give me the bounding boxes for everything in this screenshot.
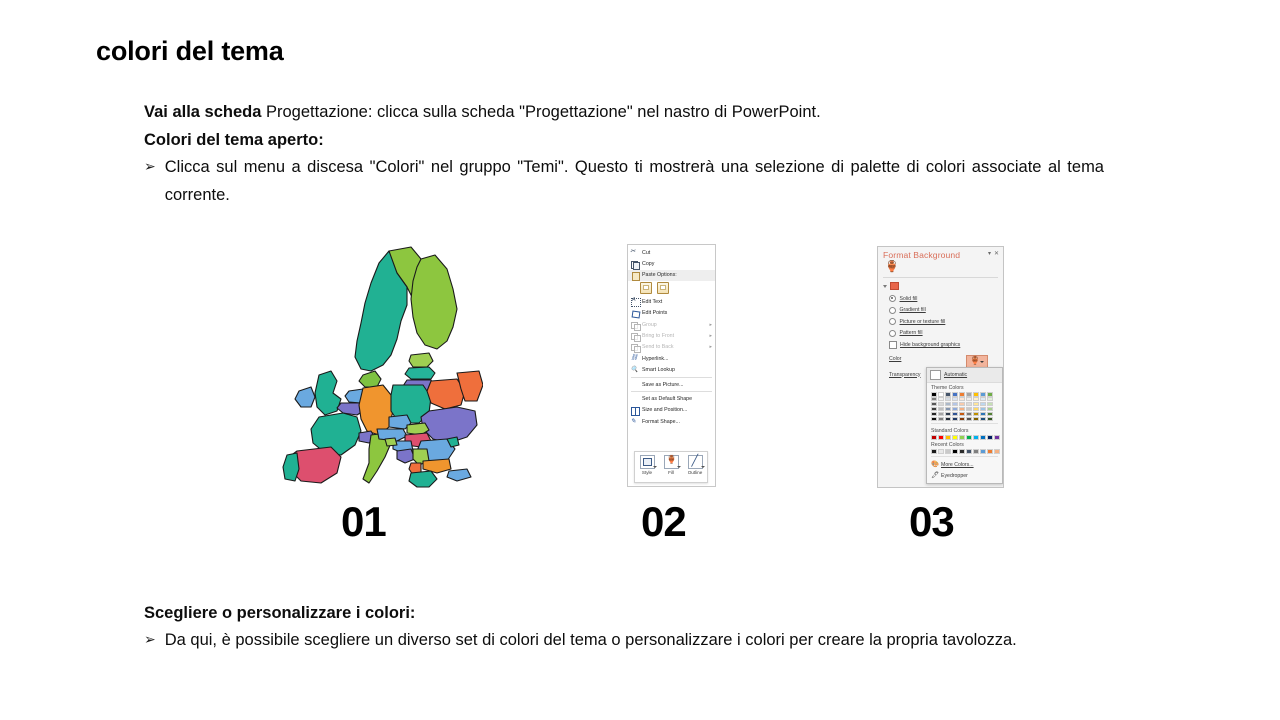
map-region-bosnia xyxy=(397,449,415,463)
collapse-triangle-icon[interactable] xyxy=(883,285,887,288)
recent-colors-label: Recent Colors xyxy=(927,440,1002,449)
size-position-icon xyxy=(630,406,640,415)
context-menu-list[interactable]: Cut Copy Paste Options: Edit Text Edit P… xyxy=(628,245,715,427)
step-number-02: 02 xyxy=(641,498,686,546)
format-shape-icon xyxy=(630,417,640,426)
context-menu-item-bring-to-front: Bring to Front ▸ xyxy=(628,330,715,341)
fill-option-picture-texture[interactable]: Picture or texture fill xyxy=(878,316,1003,328)
standard-colors-label: Standard Colors xyxy=(927,426,1002,435)
instruction-bullet-2-text: Da qui, è possibile scegliere un diverso… xyxy=(165,627,1024,654)
map-region-slovenia xyxy=(385,438,397,446)
submenu-arrow-icon: ▸ xyxy=(709,344,712,350)
instruction-bullet-1: ➢ Clicca sul menu a discesa "Colori" nel… xyxy=(144,154,1104,209)
edit-text-icon xyxy=(630,297,640,306)
instruction-goto-tab-rest: Progettazione: clicca sulla scheda "Prog… xyxy=(261,103,820,121)
context-menu-item-group: Group ▸ xyxy=(628,319,715,330)
standard-swatch xyxy=(945,435,951,440)
radio-pattern-fill[interactable] xyxy=(889,330,896,337)
scissors-icon xyxy=(630,248,640,257)
pane-divider xyxy=(883,277,998,278)
map-region-portugal xyxy=(283,453,299,481)
mini-toolbar-fill-button[interactable]: Fill xyxy=(660,455,682,475)
instructions-bottom: Scegliere o personalizzare i colori: ➢ D… xyxy=(144,600,1024,655)
map-region-denmark xyxy=(359,371,381,387)
pane-options-chevron-icon[interactable]: ▾ xyxy=(988,250,991,257)
more-colors-item[interactable]: More Colors... xyxy=(927,459,1002,470)
recent-swatch xyxy=(945,449,951,454)
format-background-pane-figure[interactable]: Format Background ▾ ✕ Solid fill Gradien… xyxy=(877,246,1004,488)
standard-swatch xyxy=(973,435,979,440)
context-menu-item-format-shape[interactable]: Format Shape... xyxy=(628,416,715,427)
standard-swatch xyxy=(938,435,944,440)
europe-map-figure xyxy=(271,245,483,491)
context-menu-item-smart-lookup[interactable]: Smart Lookup xyxy=(628,365,715,376)
context-menu-item-send-to-back: Send to Back ▸ xyxy=(628,342,715,353)
edit-points-icon xyxy=(630,309,640,318)
context-menu-item-cut[interactable]: Cut xyxy=(628,247,715,258)
standard-swatch xyxy=(966,435,972,440)
fill-bucket-icon xyxy=(970,358,979,367)
submenu-arrow-icon: ▸ xyxy=(709,322,712,328)
eyedropper-item[interactable]: Eyedropper xyxy=(927,470,1002,481)
recent-swatch xyxy=(931,449,937,454)
recent-swatch xyxy=(938,449,944,454)
paste-option-picture-icon[interactable] xyxy=(657,282,669,294)
chevron-down-icon[interactable] xyxy=(980,361,984,363)
paste-options-row[interactable] xyxy=(628,281,715,296)
instruction-line-goto-tab: Vai alla scheda Progettazione: clicca su… xyxy=(144,99,1104,127)
mini-toolbar-style-button[interactable]: Style xyxy=(636,455,658,475)
map-region-greece xyxy=(409,471,437,487)
fill-option-solid[interactable]: Solid fill xyxy=(878,293,1003,305)
page-title: colori del tema xyxy=(96,36,284,67)
standard-swatch xyxy=(931,435,937,440)
clipboard-icon xyxy=(630,271,640,280)
copy-icon xyxy=(630,260,640,269)
fill-option-gradient[interactable]: Gradient fill xyxy=(878,305,1003,317)
instruction-heading-choose-customize: Scegliere o personalizzare i colori: xyxy=(144,600,1024,627)
recent-swatch xyxy=(952,449,958,454)
standard-swatch xyxy=(959,435,965,440)
submenu-arrow-icon: ▸ xyxy=(709,333,712,339)
context-menu-item-edit-points[interactable]: Edit Points xyxy=(628,308,715,319)
instruction-heading-theme-colors: Colori del tema aperto: xyxy=(144,127,1104,155)
palette-icon xyxy=(931,461,938,468)
instructions-top: Vai alla scheda Progettazione: clicca su… xyxy=(144,99,1104,210)
arrow-bullet-icon: ➢ xyxy=(144,627,156,652)
fill-color-chip-icon xyxy=(890,282,899,290)
mini-toolbar-outline-button[interactable]: Outline xyxy=(684,455,706,475)
color-dropdown-panel[interactable]: Automatic Theme Colors Standard Colors xyxy=(926,367,1003,484)
context-menu-item-copy[interactable]: Copy xyxy=(628,258,715,269)
standard-swatch xyxy=(994,435,1000,440)
close-icon[interactable]: ✕ xyxy=(994,250,999,257)
instruction-bullet-1-text: Clicca sul menu a discesa "Colori" nel g… xyxy=(165,154,1104,209)
group-icon xyxy=(630,320,640,329)
instruction-bullet-2: ➢ Da qui, è possibile scegliere un diver… xyxy=(144,627,1024,654)
theme-variant-grid[interactable] xyxy=(927,397,1002,421)
context-menu-item-edit-text[interactable]: Edit Text xyxy=(628,296,715,307)
instruction-goto-tab-strong: Vai alla scheda xyxy=(144,103,261,121)
checkbox-box-icon[interactable] xyxy=(889,341,897,349)
format-background-header: Format Background ▾ ✕ xyxy=(878,247,1003,260)
bring-front-icon xyxy=(630,332,640,341)
fill-option-pattern[interactable]: Pattern fill xyxy=(878,328,1003,340)
standard-colors-grid[interactable] xyxy=(927,435,1002,440)
paste-option-keep-source-icon[interactable] xyxy=(640,282,652,294)
step-number-01: 01 xyxy=(341,498,386,546)
map-region-estonia xyxy=(409,353,433,367)
recent-swatch xyxy=(959,449,965,454)
field-color-label: Color xyxy=(889,356,931,362)
outline-pen-icon xyxy=(688,455,703,469)
map-region-finland xyxy=(411,255,457,349)
context-menu-item-set-as-default-shape[interactable]: Set as Default Shape xyxy=(628,393,715,404)
shape-mini-toolbar[interactable]: Style Fill Outline xyxy=(634,451,708,483)
map-region-germany xyxy=(359,385,393,435)
radio-solid-fill[interactable] xyxy=(889,295,896,302)
palette-separator xyxy=(931,423,998,424)
color-automatic-item[interactable]: Automatic xyxy=(927,368,1002,383)
recent-swatch xyxy=(973,449,979,454)
arrow-bullet-icon: ➢ xyxy=(144,154,156,179)
fill-bucket-icon[interactable] xyxy=(885,262,898,274)
context-menu-item-hyperlink[interactable]: Hyperlink... xyxy=(628,353,715,364)
recent-swatch xyxy=(980,449,986,454)
hyperlink-icon xyxy=(630,354,640,363)
step-number-03: 03 xyxy=(909,498,954,546)
fill-bucket-icon xyxy=(664,455,679,469)
palette-separator xyxy=(931,456,998,457)
send-back-icon xyxy=(630,343,640,352)
context-menu-item-size-and-position[interactable]: Size and Position... xyxy=(628,405,715,416)
recent-swatch xyxy=(987,449,993,454)
map-region-ireland xyxy=(295,387,315,407)
shape-style-icon xyxy=(640,455,655,469)
radio-gradient-fill[interactable] xyxy=(889,307,896,314)
standard-swatch xyxy=(987,435,993,440)
context-menu-item-paste-options[interactable]: Paste Options: xyxy=(628,270,715,281)
map-region-turkey xyxy=(447,469,471,481)
standard-swatch xyxy=(952,435,958,440)
checkbox-hide-background-graphics[interactable]: Hide background graphics xyxy=(878,339,1003,351)
field-transparency-label: Transparency xyxy=(889,372,931,378)
blank-icon xyxy=(630,394,640,403)
pane-header-controls[interactable]: ▾ ✕ xyxy=(988,250,999,257)
eyedropper-icon xyxy=(931,472,938,479)
context-menu-figure[interactable]: Cut Copy Paste Options: Edit Text Edit P… xyxy=(627,244,716,487)
standard-swatch xyxy=(980,435,986,440)
recent-swatch xyxy=(966,449,972,454)
format-background-title: Format Background xyxy=(883,250,960,260)
radio-picture-texture-fill[interactable] xyxy=(889,318,896,325)
context-menu-separator xyxy=(631,391,712,392)
smart-lookup-icon xyxy=(630,366,640,375)
recent-swatch xyxy=(994,449,1000,454)
fill-section-header[interactable] xyxy=(878,282,1003,290)
theme-colors-label: Theme Colors xyxy=(927,383,1002,392)
context-menu-item-save-as-picture[interactable]: Save as Picture... xyxy=(628,379,715,390)
recent-colors-grid[interactable] xyxy=(927,449,1002,454)
blank-icon xyxy=(630,380,640,389)
map-region-latvia xyxy=(405,367,435,379)
automatic-color-swatch xyxy=(930,370,941,380)
context-menu-separator xyxy=(631,377,712,378)
